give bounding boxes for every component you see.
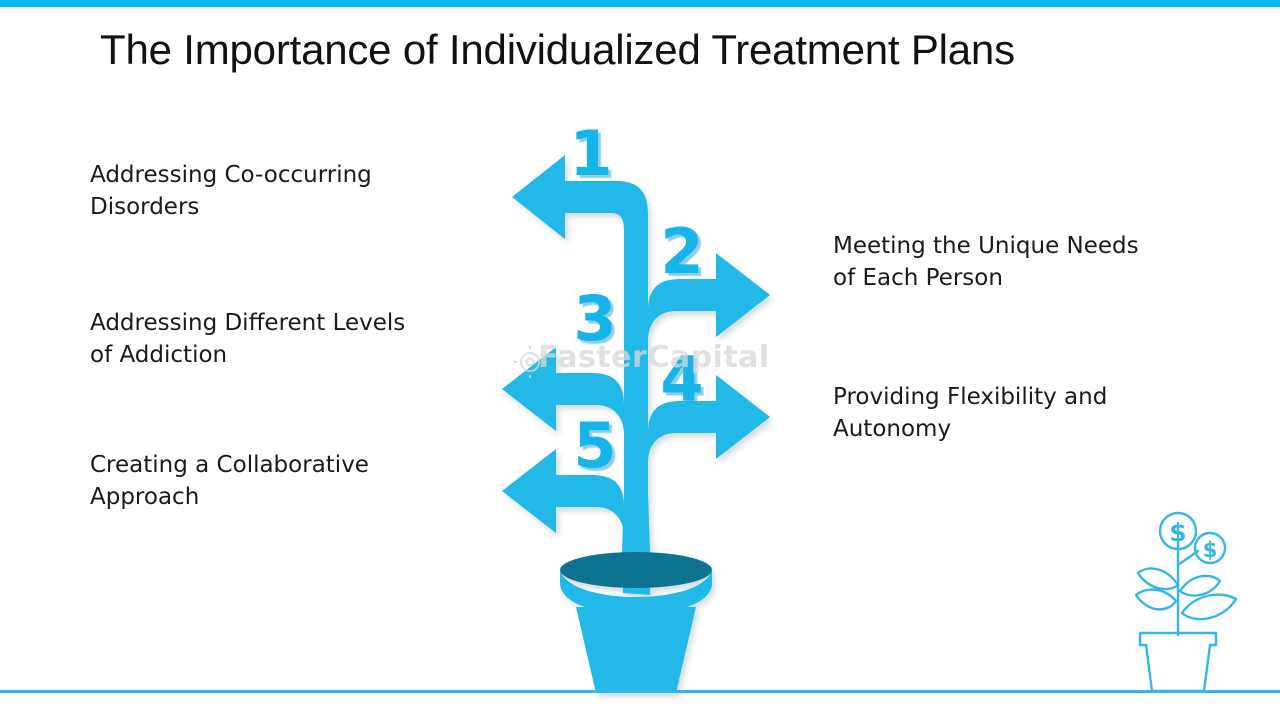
arrow-number-4: 4 [660, 343, 703, 416]
arrow-number-1: 1 [569, 117, 612, 190]
arrow-number-2: 2 [660, 215, 703, 288]
growing-plant-arrow-diagram: 1 2 3 4 5 [490, 115, 790, 700]
item-label-2-line2: of Each Person [833, 263, 1253, 295]
pot-body [576, 607, 696, 693]
item-label-1-line1: Addressing Co-occurring [90, 160, 510, 192]
item-label-5-line1: Creating a Collaborative [90, 450, 510, 482]
top-accent-bar [0, 0, 1280, 7]
item-label-3-line1: Addressing Different Levels [90, 308, 510, 340]
item-label-2-line1: Meeting the Unique Needs [833, 231, 1253, 263]
coin-2-symbol: $ [1203, 538, 1218, 562]
arrow-number-5: 5 [573, 409, 616, 482]
item-label-5: Creating a Collaborative Approach [90, 450, 510, 513]
item-label-3: Addressing Different Levels of Addiction [90, 308, 510, 371]
bottom-accent-bar [0, 690, 1280, 693]
coin-1-symbol: $ [1169, 518, 1186, 547]
leaf-upper-right [1180, 576, 1220, 596]
icon-pot [1140, 633, 1216, 691]
item-label-1: Addressing Co-occurring Disorders [90, 160, 510, 223]
item-label-4: Providing Flexibility and Autonomy [833, 382, 1253, 445]
leaf-lower-left [1136, 590, 1176, 610]
item-label-1-line2: Disorders [90, 192, 510, 224]
page-title: The Importance of Individualized Treatme… [100, 26, 1160, 74]
leaf-upper-left [1138, 569, 1178, 589]
money-plant-icon: $ $ [1126, 503, 1276, 695]
arrow-number-3: 3 [573, 282, 616, 355]
item-label-2: Meeting the Unique Needs of Each Person [833, 231, 1253, 294]
item-label-3-line2: of Addiction [90, 340, 510, 372]
item-label-4-line1: Providing Flexibility and [833, 382, 1253, 414]
item-label-5-line2: Approach [90, 482, 510, 514]
leaf-lower-right [1182, 595, 1236, 620]
pot-rim-inner [560, 552, 712, 588]
slide-canvas: The Importance of Individualized Treatme… [0, 0, 1280, 720]
item-label-4-line2: Autonomy [833, 414, 1253, 446]
